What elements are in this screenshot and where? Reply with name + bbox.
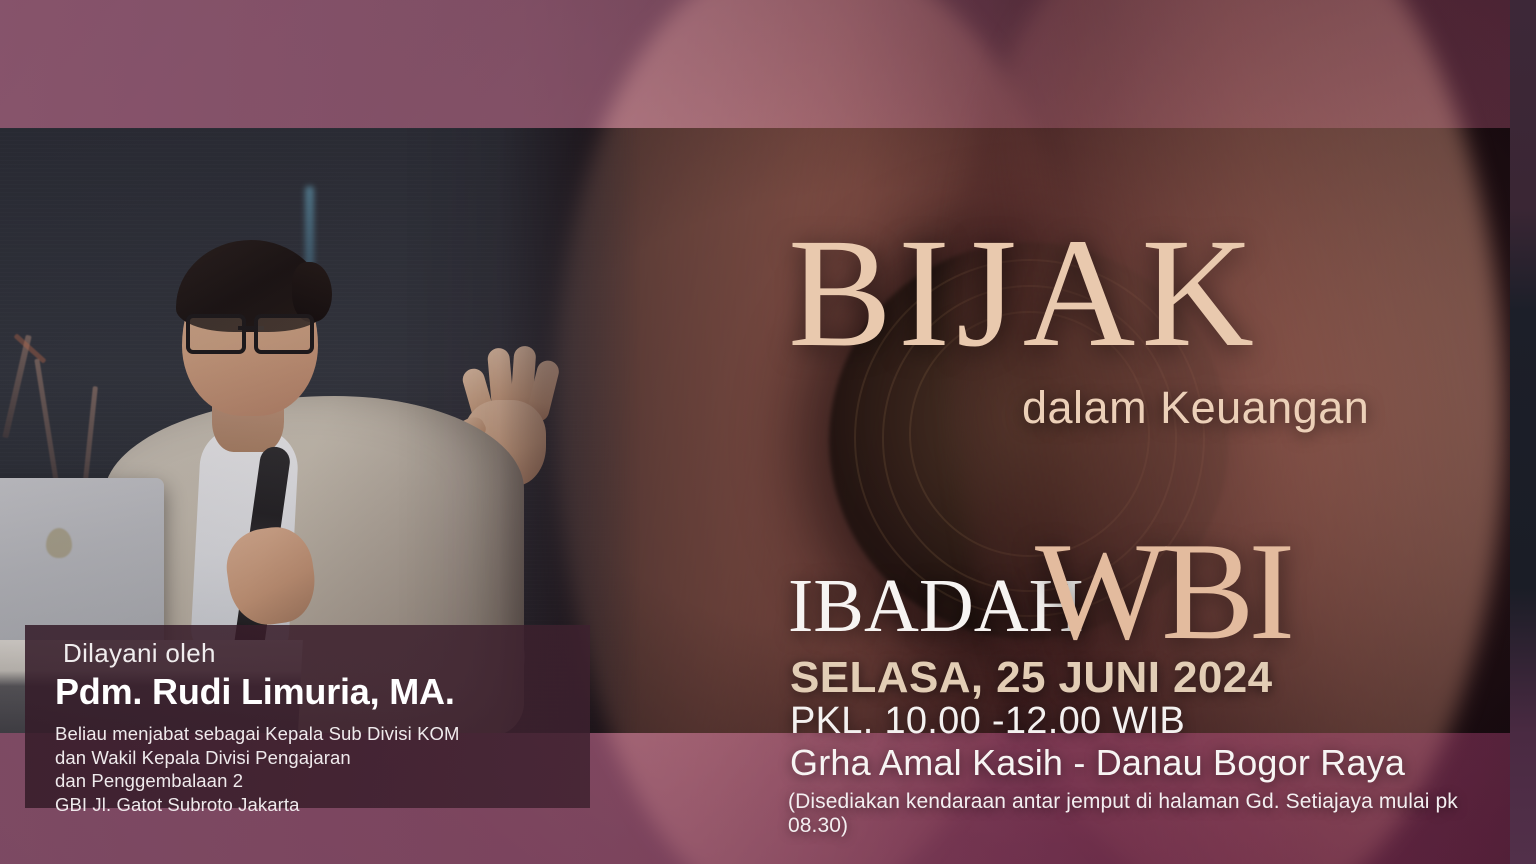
served-by-label: Dilayani oleh <box>55 639 590 668</box>
poster-title: BIJAK <box>788 215 1260 371</box>
speaker-description: Beliau menjabat sebagai Kepala Sub Divis… <box>55 722 590 817</box>
speaker-description-line: GBI Jl. Gatot Subroto Jakarta <box>55 793 590 817</box>
service-heading: IBADAH WBI <box>780 530 1340 650</box>
speaker-description-line: Beliau menjabat sebagai Kepala Sub Divis… <box>55 722 590 746</box>
speaker-description-line: dan Penggembalaan 2 <box>55 769 590 793</box>
service-name: WBI <box>1035 522 1289 662</box>
event-time: PKL. 10.00 -12.00 WIB <box>790 700 1185 743</box>
speaker-description-line: dan Wakil Kepala Divisi Pengajaran <box>55 746 590 770</box>
poster-subtitle: dalam Keuangan <box>1022 382 1369 434</box>
content-column: BIJAK dalam Keuangan IBADAH WBI SELASA, … <box>780 0 1510 864</box>
speaker-name: Pdm. Rudi Limuria, MA. <box>55 671 590 713</box>
right-accent-band <box>1510 0 1536 864</box>
event-date: SELASA, 25 JUNI 2024 <box>790 653 1272 703</box>
event-note: (Disediakan kendaraan antar jemput di ha… <box>788 790 1510 838</box>
speaker-info-box: Dilayani oleh Pdm. Rudi Limuria, MA. Bel… <box>25 625 590 808</box>
poster-canvas: Dilayani oleh Pdm. Rudi Limuria, MA. Bel… <box>0 0 1536 864</box>
event-venue: Grha Amal Kasih - Danau Bogor Raya <box>790 742 1405 784</box>
